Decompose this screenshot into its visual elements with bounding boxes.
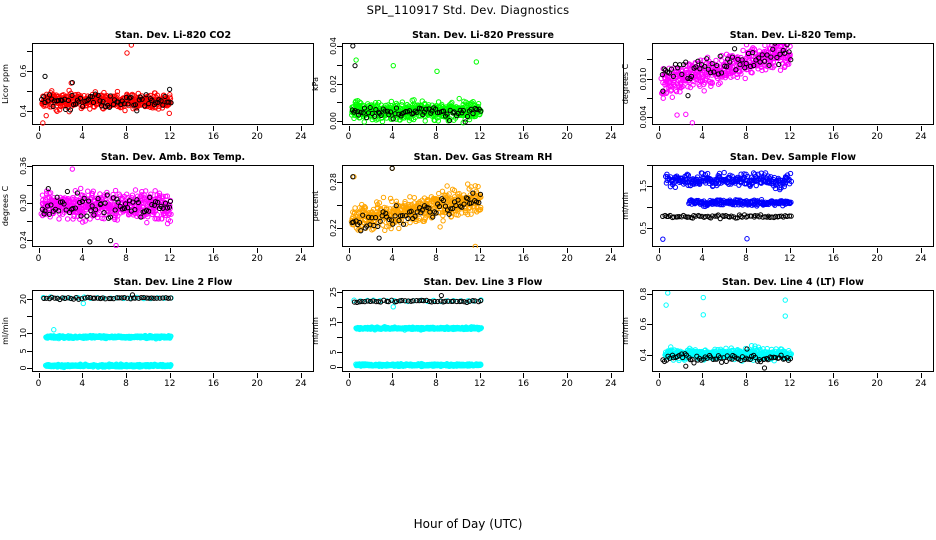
scatter-points [33,44,315,126]
x-tick-label: 20 [865,254,889,264]
x-tick [39,373,40,378]
x-tick [659,126,660,131]
x-tick [702,126,703,131]
x-tick [349,373,350,378]
x-tick-label: 16 [511,379,535,389]
x-tick [702,373,703,378]
x-tick [301,373,302,378]
x-tick-label: 12 [468,379,492,389]
x-tick [301,248,302,253]
x-tick [523,126,524,131]
series-hourly [42,293,173,302]
y-tick-label: 0.6 [639,307,649,341]
y-tick [27,51,32,52]
x-tick-label: 12 [158,379,182,389]
y-axis-label: ml/min [311,290,321,372]
x-tick-label: 4 [690,379,714,389]
x-tick-label: 4 [70,379,94,389]
panel-title: Stan. Dev. Li-820 CO2 [32,30,314,41]
scatter-points [343,291,625,373]
y-tick-label: 1.5 [639,169,649,203]
x-tick-label: 24 [909,379,933,389]
x-tick-label: 16 [821,254,845,264]
x-tick-label: 8 [114,379,138,389]
y-tick-label: 0.36 [19,149,29,183]
x-tick [436,248,437,253]
x-tick [82,126,83,131]
x-tick-label: 24 [909,132,933,142]
panel-3: Stan. Dev. Li-820 Temp.0.0040.010degrees… [622,30,936,152]
y-tick-label: 0.28 [329,165,339,199]
y-tick [647,165,652,166]
y-tick-label: 15 [329,305,339,339]
y-axis-label: degrees C [621,43,631,125]
x-tick [611,126,612,131]
panel-title: Stan. Dev. Line 4 (LT) Flow [652,277,934,288]
y-axis-label: ml/min [621,165,631,247]
x-tick-label: 4 [380,379,404,389]
x-tick [480,126,481,131]
x-tick [746,126,747,131]
x-tick [480,373,481,378]
y-axis-label: ml/min [621,290,631,372]
x-tick-label: 24 [289,254,313,264]
panel-6: Stan. Dev. Sample Flow0.51.5ml/min048121… [622,152,936,274]
x-tick-label: 4 [70,254,94,264]
y-tick-label: 0.4 [19,94,29,128]
x-tick [126,248,127,253]
x-tick-label: 20 [245,132,269,142]
x-tick-label: 0 [647,379,671,389]
y-tick [647,98,652,99]
y-axis-label: degrees C [1,165,11,247]
x-tick-label: 20 [555,132,579,142]
x-tick [567,248,568,253]
scatter-points [653,44,935,126]
x-tick-label: 20 [555,254,579,264]
scatter-points [33,166,315,248]
x-tick [126,373,127,378]
x-tick [392,373,393,378]
plot-area [652,165,934,247]
x-tick-label: 12 [468,132,492,142]
x-tick [523,248,524,253]
panel-title: Stan. Dev. Li-820 Pressure [342,30,624,41]
x-tick-label: 4 [690,132,714,142]
x-tick-label: 16 [821,132,845,142]
series-band-mid [44,328,173,341]
x-tick [257,373,258,378]
scatter-points [653,166,935,248]
x-tick [921,126,922,131]
x-tick [301,126,302,131]
series-primary [40,44,173,125]
x-tick-label: 20 [555,379,579,389]
x-tick-label: 0 [337,379,361,389]
x-tick [567,373,568,378]
x-tick-label: 8 [114,132,138,142]
x-tick [213,373,214,378]
x-tick [746,248,747,253]
panel-title: Stan. Dev. Line 2 Flow [32,277,314,288]
x-tick [702,248,703,253]
x-tick [790,126,791,131]
plot-area [342,43,624,125]
x-tick-label: 16 [511,132,535,142]
x-tick-label: 16 [511,254,535,264]
x-tick-label: 0 [27,132,51,142]
y-axis-label: ml/min [1,290,11,372]
x-tick [921,248,922,253]
x-tick [170,126,171,131]
panel-1: Stan. Dev. Li-820 CO20.40.6Licor ppm0481… [2,30,318,152]
scatter-points [343,44,625,126]
y-axis-label: kPa [311,43,321,125]
x-tick [392,248,393,253]
x-tick [39,248,40,253]
x-tick [746,373,747,378]
y-tick-label: 0.4 [639,338,649,372]
x-tick [877,373,878,378]
x-tick-label: 4 [70,132,94,142]
x-tick-label: 24 [599,132,623,142]
plot-area [342,290,624,372]
x-tick-label: 24 [909,254,933,264]
panel-7: Stan. Dev. Line 2 Flow051020ml/min048121… [2,277,318,399]
series-primary-lower [687,197,793,208]
x-tick [877,248,878,253]
panel-title: Stan. Dev. Line 3 Flow [342,277,624,288]
y-tick-label: 0.004 [639,100,649,134]
y-axis-label: percent [311,165,321,247]
x-tick [82,248,83,253]
y-tick [647,207,652,208]
x-tick [790,248,791,253]
x-tick-label: 12 [468,254,492,264]
plot-area [652,290,934,372]
x-tick-label: 4 [380,254,404,264]
x-tick-label: 24 [599,254,623,264]
x-tick-label: 8 [734,254,758,264]
x-tick [126,126,127,131]
x-tick [877,126,878,131]
y-tick-label: 10 [19,316,29,350]
scatter-points [653,291,935,373]
y-tick-label: 25 [329,275,339,309]
x-tick-label: 24 [289,132,313,142]
x-tick-label: 8 [424,132,448,142]
plot-area [32,290,314,372]
x-tick-label: 0 [647,254,671,264]
y-tick-label: 0.8 [639,277,649,311]
x-tick [436,373,437,378]
x-tick-label: 0 [337,254,361,264]
x-tick-label: 0 [647,132,671,142]
x-tick-label: 16 [821,379,845,389]
y-tick-label: 0.24 [19,223,29,257]
x-tick [82,373,83,378]
x-tick [349,248,350,253]
x-tick [213,248,214,253]
plot-area [652,43,934,125]
y-tick-label: 0.6 [19,54,29,88]
x-tick-label: 12 [778,379,802,389]
y-tick [337,205,342,206]
x-tick-label: 4 [380,132,404,142]
x-tick [611,373,612,378]
x-tick [436,126,437,131]
x-tick [392,126,393,131]
x-tick [257,126,258,131]
y-tick-label: 0.22 [329,211,339,245]
x-tick [659,248,660,253]
panel-title: Stan. Dev. Gas Stream RH [342,152,624,163]
y-axis-label: Licor ppm [1,43,11,125]
panel-title: Stan. Dev. Sample Flow [652,152,934,163]
x-tick-label: 12 [158,254,182,264]
panel-9: Stan. Dev. Line 4 (LT) Flow0.40.60.8ml/m… [622,277,936,399]
x-tick-label: 24 [289,379,313,389]
figure-xaxis-label: Hour of Day (UTC) [0,517,936,531]
y-tick [27,91,32,92]
x-tick-label: 4 [690,254,714,264]
x-tick-label: 16 [201,379,225,389]
x-tick-label: 8 [424,254,448,264]
plot-area [342,165,624,247]
y-tick-label: 0.30 [19,186,29,220]
x-tick-label: 12 [778,132,802,142]
y-tick [337,102,342,103]
x-tick [833,126,834,131]
x-tick-label: 16 [201,132,225,142]
x-tick [659,373,660,378]
y-tick [647,59,652,60]
panel-8: Stan. Dev. Line 3 Flow051525ml/min048121… [312,277,628,399]
page-title: SPL_110917 Std. Dev. Diagnostics [0,3,936,17]
x-tick-label: 0 [27,379,51,389]
x-tick [833,373,834,378]
x-tick-label: 20 [245,254,269,264]
scatter-points [33,291,315,373]
plot-area [32,165,314,247]
x-tick-label: 12 [778,254,802,264]
x-tick-label: 0 [337,132,361,142]
y-tick-label: 5 [329,335,339,369]
plot-area [32,43,314,125]
x-tick [567,126,568,131]
series-band-mid [354,325,484,333]
series-band-low [354,361,483,368]
x-tick-label: 8 [734,379,758,389]
x-tick [611,248,612,253]
y-tick-label: 20 [19,282,29,316]
x-tick [523,373,524,378]
scatter-points [343,166,625,248]
x-tick-label: 24 [599,379,623,389]
series-hourly [352,293,482,304]
x-tick-label: 20 [865,132,889,142]
x-tick [833,248,834,253]
x-tick [790,373,791,378]
panel-title: Stan. Dev. Li-820 Temp. [652,30,934,41]
y-tick-label: 0.04 [329,29,339,63]
y-tick-label: 0.010 [639,62,649,96]
x-tick-label: 8 [114,254,138,264]
x-tick [213,126,214,131]
x-tick-label: 16 [201,254,225,264]
x-tick [921,373,922,378]
x-tick-label: 20 [245,379,269,389]
y-tick [27,185,32,186]
x-tick [349,126,350,131]
y-tick-label: 0.5 [639,211,649,245]
y-tick [27,221,32,222]
x-tick-label: 8 [424,379,448,389]
x-tick [170,248,171,253]
x-tick-label: 0 [27,254,51,264]
y-tick [27,316,32,317]
panel-title: Stan. Dev. Amb. Box Temp. [32,152,314,163]
y-tick-label: 0.02 [329,67,339,101]
panel-2: Stan. Dev. Li-820 Pressure0.000.020.04kP… [312,30,628,152]
series-hourly [661,213,794,221]
x-tick [170,373,171,378]
panel-5: Stan. Dev. Gas Stream RH0.220.28percent0… [312,152,628,274]
y-tick [337,65,342,66]
series-band-low [43,362,173,370]
x-tick-label: 12 [158,132,182,142]
x-tick [257,248,258,253]
x-tick-label: 8 [734,132,758,142]
panel-4: Stan. Dev. Amb. Box Temp.0.240.300.36deg… [2,152,318,274]
x-tick [480,248,481,253]
x-tick [39,126,40,131]
x-tick-label: 20 [865,379,889,389]
